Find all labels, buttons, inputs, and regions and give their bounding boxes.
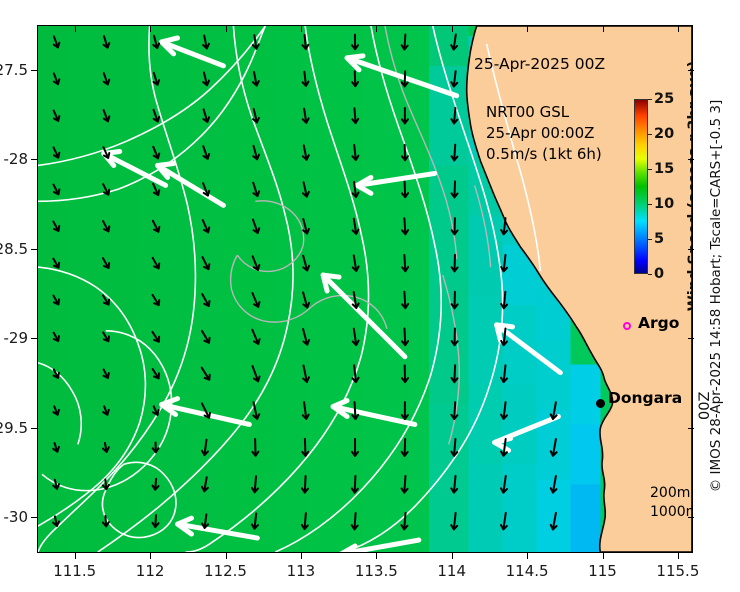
argo-label: Argo bbox=[638, 314, 679, 332]
colorbar-tick bbox=[648, 134, 652, 135]
bathy-1000m-label: 1000m bbox=[650, 503, 693, 522]
x-tick-label: 115 bbox=[588, 562, 617, 580]
bathymetry-legend: 200m 1000m bbox=[650, 484, 693, 522]
y-tick bbox=[31, 70, 37, 71]
x-tick-top bbox=[75, 26, 76, 32]
colorbar-tick bbox=[648, 239, 652, 240]
x-tick bbox=[452, 553, 453, 559]
overlay-datetime: 25-Apr-2025 00Z bbox=[474, 55, 605, 73]
x-tick-label: 113 bbox=[287, 562, 316, 580]
wind-vector bbox=[454, 181, 455, 197]
wind-vector bbox=[305, 439, 306, 456]
map-plot-area: 25-Apr-2025 00Z NRT00 GSL 25-Apr 00:00Z … bbox=[37, 25, 693, 553]
y-tick bbox=[31, 159, 37, 160]
x-tick-label: 114.5 bbox=[506, 562, 549, 580]
colorbar-tick-label: 25 bbox=[654, 91, 674, 107]
y-tick-right bbox=[688, 159, 694, 160]
y-tick bbox=[31, 517, 37, 518]
x-tick-top bbox=[226, 26, 227, 32]
x-tick-label: 111.5 bbox=[53, 562, 96, 580]
dongara-label: Dongara bbox=[608, 389, 682, 407]
colorbar-title: Wind Speed (access-r 3hr avg) bbox=[686, 61, 693, 311]
x-tick-label: 115.5 bbox=[656, 562, 699, 580]
x-tick-top bbox=[376, 26, 377, 32]
colorbar-tick-label: 10 bbox=[654, 196, 674, 212]
y-tick-label: -30 bbox=[4, 508, 29, 526]
figure-root: 25-Apr-2025 00Z NRT00 GSL 25-Apr 00:00Z … bbox=[0, 0, 740, 592]
y-tick-right bbox=[688, 70, 694, 71]
y-tick-label: -28.5 bbox=[0, 240, 28, 258]
y-tick-label: -29 bbox=[4, 329, 29, 347]
x-tick-label: 113.5 bbox=[355, 562, 398, 580]
x-tick-label: 114 bbox=[437, 562, 466, 580]
wind-vector bbox=[355, 476, 356, 493]
x-tick-top bbox=[603, 26, 604, 32]
y-tick-right bbox=[688, 517, 694, 518]
x-tick-label: 112 bbox=[136, 562, 165, 580]
wind-vector bbox=[405, 182, 406, 198]
x-tick-top bbox=[301, 26, 302, 32]
colorbar-tick-label: 20 bbox=[654, 126, 674, 142]
colorbar: 0510152025 Wind Speed (access-r 3hr avg) bbox=[634, 86, 693, 301]
x-tick bbox=[678, 553, 679, 559]
wind-vector bbox=[404, 329, 405, 346]
x-tick-label: 112.5 bbox=[204, 562, 247, 580]
colorbar-gradient bbox=[634, 99, 648, 274]
colorbar-tick-label: 0 bbox=[654, 266, 664, 282]
y-tick bbox=[31, 249, 37, 250]
x-tick-top bbox=[452, 26, 453, 32]
x-tick bbox=[150, 553, 151, 559]
y-tick-label: -28 bbox=[4, 150, 29, 168]
wind-vector bbox=[305, 476, 306, 493]
y-tick-right bbox=[688, 249, 694, 250]
y-tick-label: -27.5 bbox=[0, 61, 28, 79]
y-tick-right bbox=[688, 338, 694, 339]
wind-vector bbox=[405, 439, 406, 456]
colorbar-tick bbox=[648, 169, 652, 170]
x-tick bbox=[301, 553, 302, 559]
x-tick bbox=[226, 553, 227, 559]
y-tick-label: -29.5 bbox=[0, 419, 28, 437]
wind-vector bbox=[454, 365, 455, 382]
colorbar-tick bbox=[648, 204, 652, 205]
x-tick-top bbox=[678, 26, 679, 32]
colorbar-tick bbox=[648, 99, 652, 100]
x-tick-top bbox=[527, 26, 528, 32]
x-tick bbox=[75, 553, 76, 559]
colorbar-tick bbox=[648, 274, 652, 275]
x-tick-top bbox=[150, 26, 151, 32]
x-tick bbox=[376, 553, 377, 559]
overlay-model-info: NRT00 GSL 25-Apr 00:00Z 0.5m/s (1kt 6h) bbox=[486, 102, 602, 165]
x-tick bbox=[603, 553, 604, 559]
colorbar-tick-label: 5 bbox=[654, 231, 664, 247]
wind-vector bbox=[405, 71, 406, 86]
colorbar-tick-label: 15 bbox=[654, 161, 674, 177]
y-tick-right bbox=[688, 428, 694, 429]
credit-clipped-text: 00Z bbox=[697, 392, 713, 420]
credit-text: © IMOS 28-Apr-2025 14:58 Hobart; Tscale=… bbox=[708, 100, 724, 493]
dongara-marker[interactable] bbox=[596, 399, 605, 408]
y-tick bbox=[31, 338, 37, 339]
argo-marker[interactable] bbox=[623, 322, 631, 330]
y-tick bbox=[31, 428, 37, 429]
bathy-200m-label: 200m bbox=[650, 484, 693, 503]
x-tick bbox=[527, 553, 528, 559]
